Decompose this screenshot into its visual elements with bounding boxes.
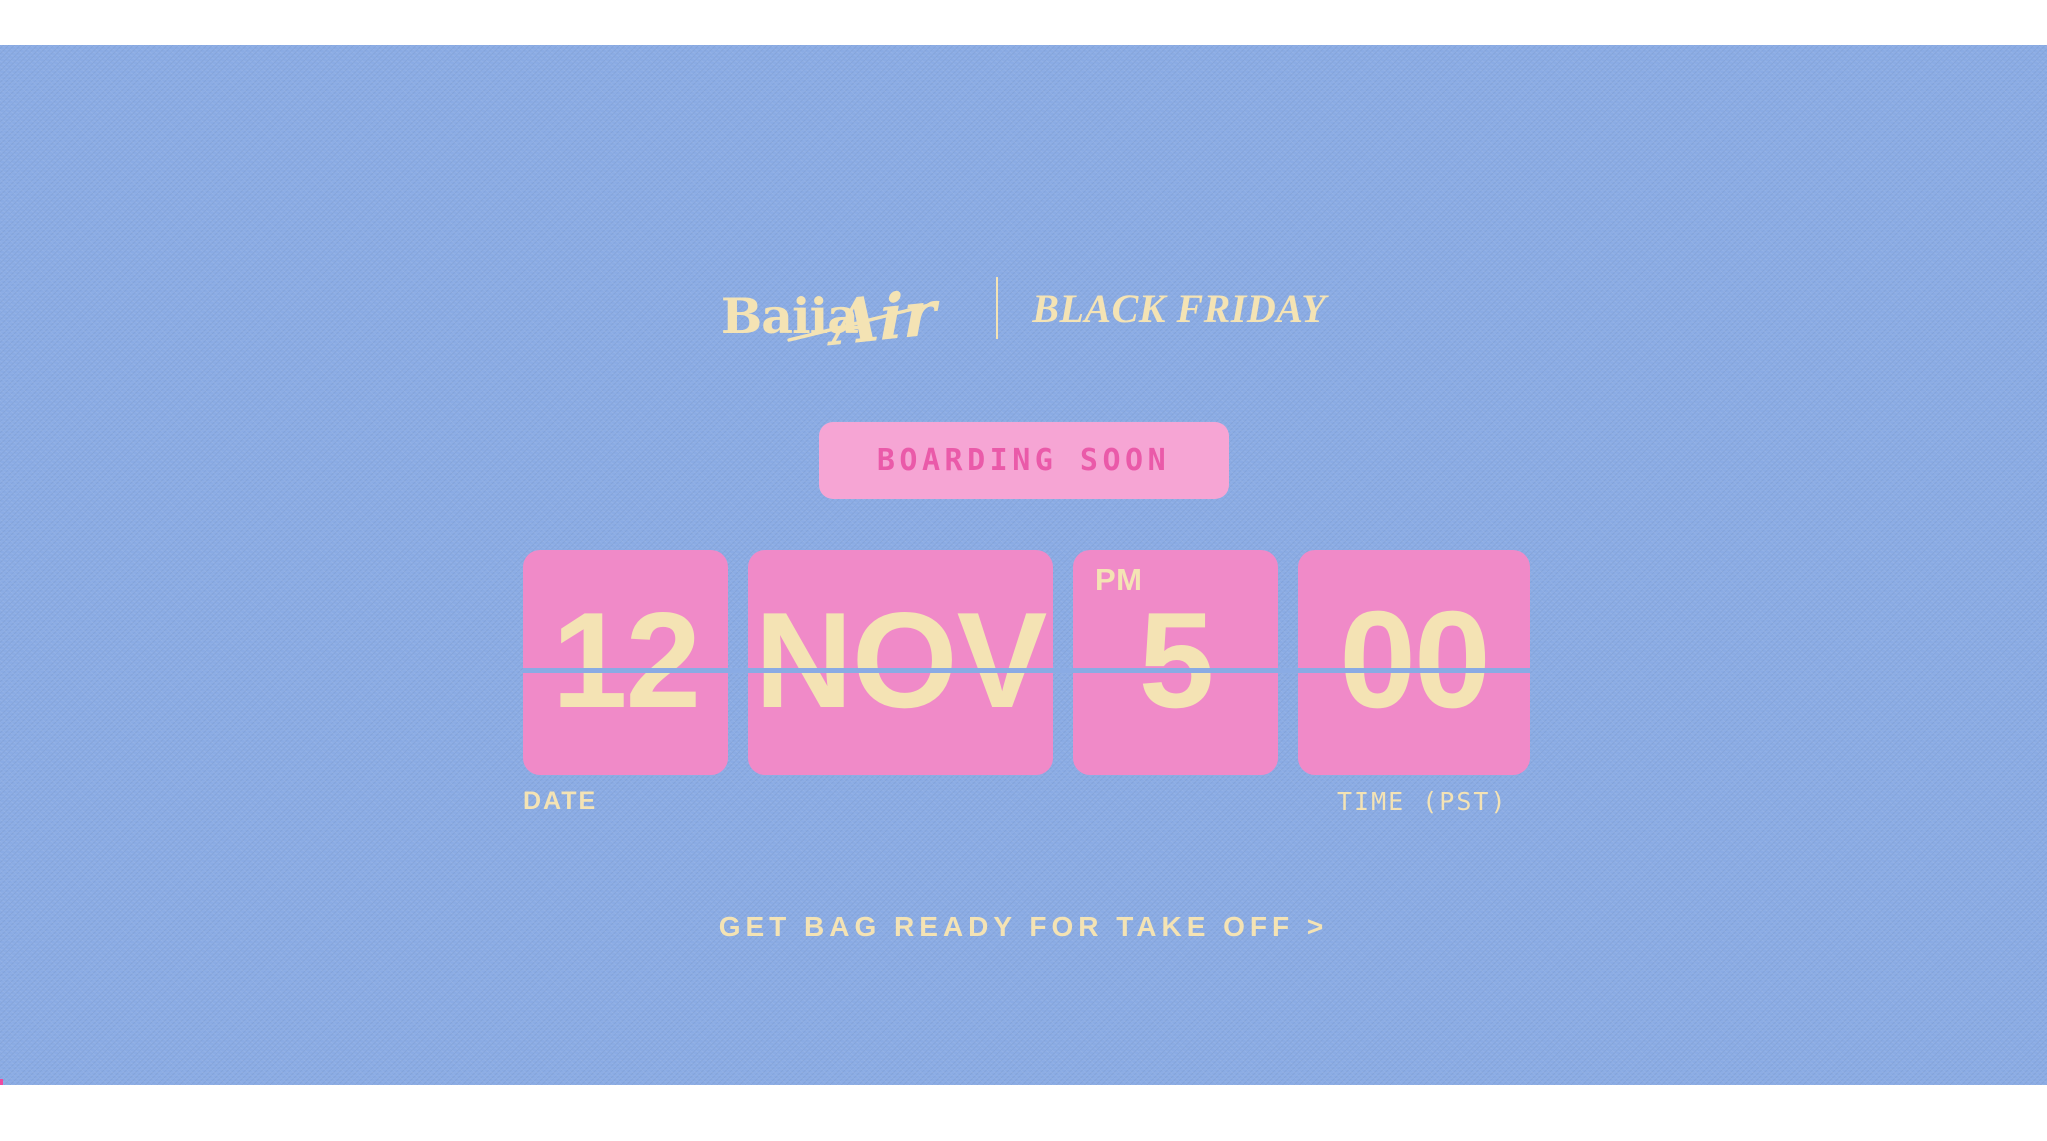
board-seam-line	[523, 668, 1530, 673]
brand-divider	[996, 277, 998, 339]
countdown-board: 12 NOV PM 5 00	[523, 550, 1530, 775]
caption-date: DATE	[523, 787, 597, 816]
caption-time: TIME (PST)	[1337, 787, 1508, 816]
status-badge: BOARDING SOON	[819, 422, 1229, 499]
status-badge-label: BOARDING SOON	[877, 443, 1170, 478]
cta-link[interactable]: GET BAG READY FOR TAKE OFF >	[719, 911, 1329, 942]
meridiem-label: PM	[1095, 562, 1143, 598]
baiia-air-logo[interactable]: Baiia Air	[721, 263, 962, 349]
flip-card-minute-value: 00	[1298, 550, 1530, 775]
hero-banner: Baiia Air BLACK FRIDAY BOARDING SOON 12	[0, 45, 2047, 1085]
brand-lockup: Baiia Air BLACK FRIDAY	[0, 263, 2047, 349]
flip-card-day-value: 12	[523, 550, 728, 775]
brand-script-air: Air	[832, 282, 936, 355]
cta-row: GET BAG READY FOR TAKE OFF >	[0, 911, 2047, 943]
page-root: Baiia Air BLACK FRIDAY BOARDING SOON 12	[0, 0, 2047, 1141]
flip-card-minute: 00	[1298, 550, 1530, 775]
flip-card-day: 12	[523, 550, 728, 775]
flip-card-hour: PM 5	[1073, 550, 1278, 775]
edge-mark	[0, 1079, 3, 1085]
hero-content: Baiia Air BLACK FRIDAY BOARDING SOON 12	[0, 45, 2047, 1085]
campaign-title: BLACK FRIDAY	[1032, 289, 1326, 329]
flip-card-month-value: NOV	[748, 550, 1053, 775]
flip-card-month: NOV	[748, 550, 1053, 775]
